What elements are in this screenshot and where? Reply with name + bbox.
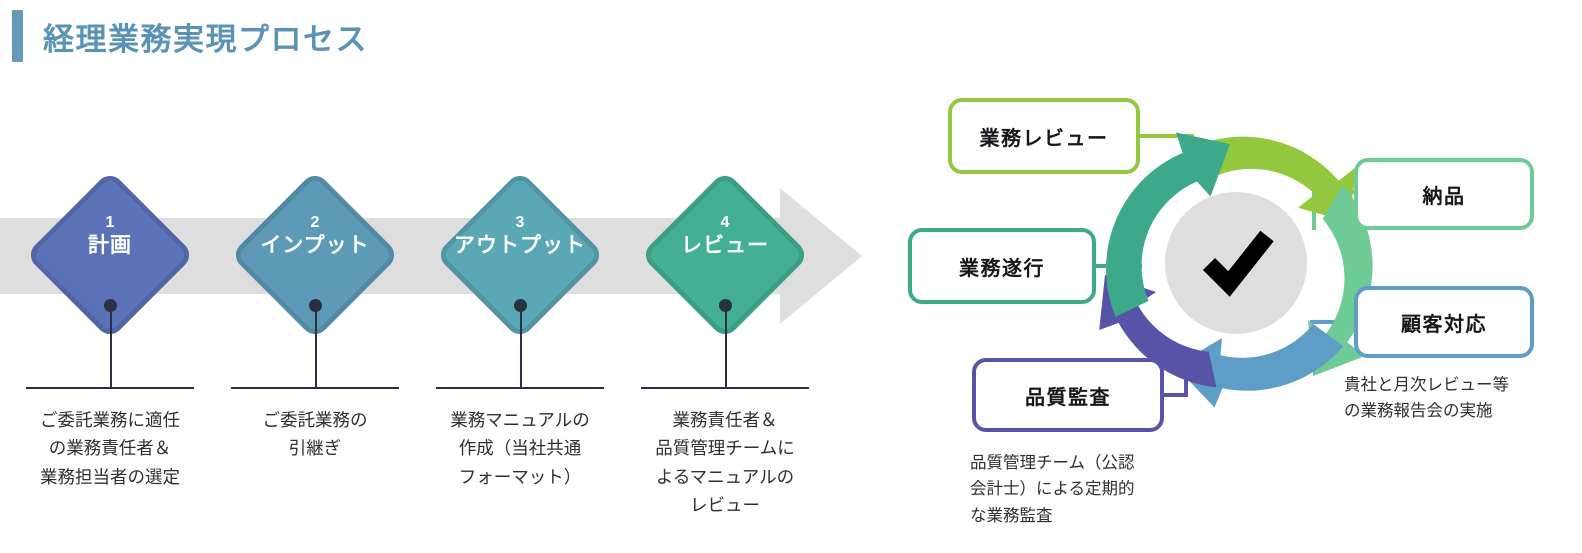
- cycle-node-delivery-label: 納品: [1423, 180, 1466, 209]
- page-header: 経理業務実現プロセス: [12, 8, 368, 64]
- process-flow: 1 計画 ご委託業務に適任 の業務責任者＆ 業務担当者の選定 2 インプット ご…: [0, 90, 900, 553]
- step-2-text: 2 インプット: [235, 213, 395, 258]
- cycle-node-review-label: 業務レビュー: [980, 122, 1109, 151]
- process-step-2[interactable]: 2 インプット ご委託業務の 引継ぎ: [215, 90, 415, 553]
- step-3-underline: [436, 387, 604, 389]
- step-1-underline: [26, 387, 194, 389]
- step-2-connector-dot: [309, 299, 322, 312]
- cycle-node-customer-label: 顧客対応: [1401, 308, 1487, 337]
- step-3-number: 3: [440, 213, 600, 233]
- process-step-1[interactable]: 1 計画 ご委託業務に適任 の業務責任者＆ 業務担当者の選定: [10, 90, 210, 553]
- cycle-node-review[interactable]: 業務レビュー: [948, 98, 1140, 174]
- step-2-caption: ご委託業務の 引継ぎ: [209, 406, 421, 463]
- process-step-4[interactable]: 4 レビュー 業務責任者＆ 品質管理チームに よるマニュアルの レビュー: [625, 90, 825, 553]
- cycle-node-execution[interactable]: 業務遂行: [908, 228, 1096, 304]
- step-1-caption: ご委託業務に適任 の業務責任者＆ 業務担当者の選定: [4, 406, 216, 491]
- step-4-underline: [641, 387, 809, 389]
- cycle-node-customer[interactable]: 顧客対応: [1354, 286, 1534, 358]
- cycle-node-audit-label: 品質監査: [1025, 381, 1111, 410]
- title-accent-bar: [12, 10, 23, 62]
- step-3-caption: 業務マニュアルの 作成（当社共通 フォーマット）: [414, 406, 626, 491]
- step-3-connector-line: [520, 306, 522, 388]
- step-1-connector-dot: [104, 299, 117, 312]
- cycle-node-delivery[interactable]: 納品: [1354, 158, 1534, 230]
- process-step-3[interactable]: 3 アウトプット 業務マニュアルの 作成（当社共通 フォーマット）: [420, 90, 620, 553]
- step-1-label: 計画: [30, 233, 190, 259]
- cycle-node-audit[interactable]: 品質監査: [972, 358, 1164, 432]
- step-2-label: インプット: [235, 233, 395, 259]
- cycle-note-customer: 貴社と月次レビュー等 の業務報告会の実施: [1344, 372, 1569, 425]
- step-1-text: 1 計画: [30, 213, 190, 258]
- step-1-connector-line: [110, 306, 112, 388]
- step-3-text: 3 アウトプット: [440, 213, 600, 258]
- step-4-caption: 業務責任者＆ 品質管理チームに よるマニュアルの レビュー: [619, 406, 831, 519]
- step-4-label: レビュー: [645, 233, 805, 259]
- cycle-node-execution-label: 業務遂行: [959, 252, 1045, 281]
- step-3-connector-dot: [514, 299, 527, 312]
- step-4-connector-line: [725, 306, 727, 388]
- step-2-connector-line: [315, 306, 317, 388]
- step-4-connector-dot: [719, 299, 732, 312]
- step-2-number: 2: [235, 213, 395, 233]
- step-1-number: 1: [30, 213, 190, 233]
- step-4-number: 4: [645, 213, 805, 233]
- cycle-note-audit: 品質管理チーム（公認 会計士）による定期的 な業務監査: [970, 450, 1200, 529]
- step-2-underline: [231, 387, 399, 389]
- step-4-text: 4 レビュー: [645, 213, 805, 258]
- cycle-diagram: 業務レビュー 業務遂行 納品 顧客対応 品質監査 貴社と月次レビュー等 の業務報…: [890, 70, 1582, 553]
- step-3-label: アウトプット: [440, 233, 600, 259]
- page-title: 経理業務実現プロセス: [43, 14, 368, 59]
